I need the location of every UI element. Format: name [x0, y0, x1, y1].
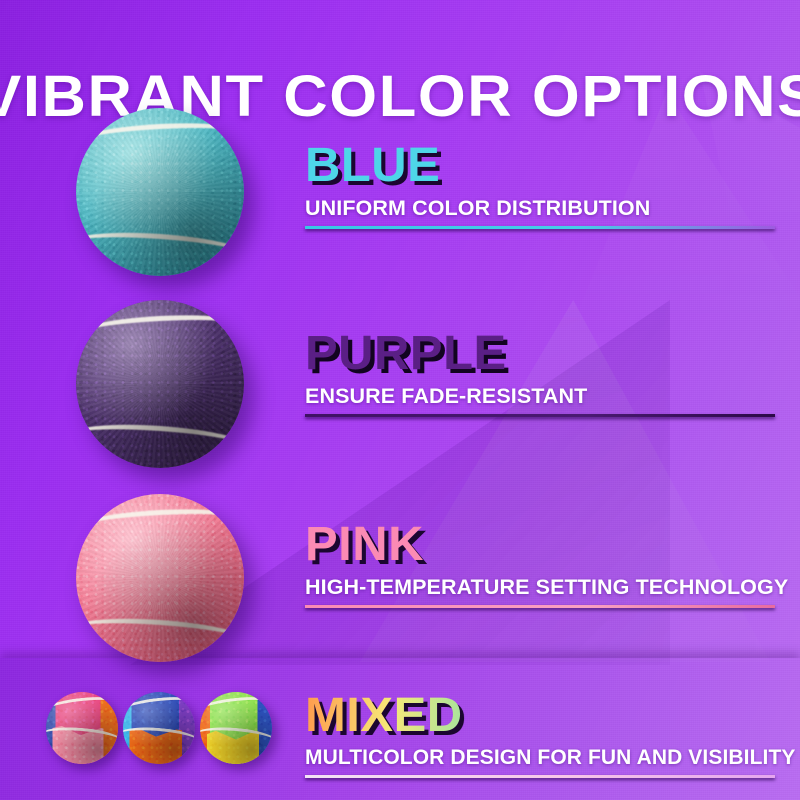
blue-divider	[305, 226, 775, 229]
purple-ball-area	[60, 292, 260, 482]
mixed-ball-blue-orange	[123, 692, 195, 764]
mixed-heading: MIXED	[305, 692, 784, 740]
blue-subtitle: UNIFORM COLOR DISTRIBUTION	[305, 196, 775, 221]
mixed-divider	[305, 775, 775, 778]
purple-heading: PURPLE	[305, 330, 784, 378]
ball-shading	[46, 692, 118, 764]
purple-divider	[305, 414, 775, 417]
poster-canvas: VIBRANT COLOR OPTIONS BLUE UNIFORM COLOR…	[0, 0, 800, 800]
purple-text-block: PURPLE ENSURE FADE-RESISTANT	[305, 330, 775, 417]
ball-shading	[76, 494, 244, 662]
section-pink: PINK HIGH-TEMPERATURE SETTING TECHNOLOGY	[0, 486, 800, 676]
blue-heading: BLUE	[305, 142, 784, 190]
mixed-balls-area	[44, 686, 274, 776]
ball-shading	[123, 692, 195, 764]
blue-text-block: BLUE UNIFORM COLOR DISTRIBUTION	[305, 142, 775, 229]
blue-tennis-ball	[76, 108, 244, 276]
mixed-ball-pink-orange	[46, 692, 118, 764]
ball-shading	[76, 300, 244, 468]
section-purple: PURPLE ENSURE FADE-RESISTANT	[0, 292, 800, 482]
pink-tennis-ball	[76, 494, 244, 662]
mixed-text-block: MIXED MULTICOLOR DESIGN FOR FUN AND VISI…	[305, 692, 775, 778]
pink-subtitle: HIGH-TEMPERATURE SETTING TECHNOLOGY	[305, 575, 775, 600]
mixed-subtitle: MULTICOLOR DESIGN FOR FUN AND VISIBILITY	[305, 746, 775, 770]
section-mixed: MIXED MULTICOLOR DESIGN FOR FUN AND VISI…	[0, 686, 800, 786]
pink-text-block: PINK HIGH-TEMPERATURE SETTING TECHNOLOGY	[305, 521, 775, 608]
blue-ball-area	[60, 100, 260, 290]
mixed-ball-green-yellow	[200, 692, 272, 764]
purple-subtitle: ENSURE FADE-RESISTANT	[305, 384, 775, 409]
ball-shading	[200, 692, 272, 764]
pink-heading: PINK	[305, 521, 784, 569]
section-blue: BLUE UNIFORM COLOR DISTRIBUTION	[0, 100, 800, 290]
pink-ball-area	[60, 486, 260, 676]
purple-tennis-ball	[76, 300, 244, 468]
pink-divider	[305, 605, 775, 608]
ball-shading	[76, 108, 244, 276]
